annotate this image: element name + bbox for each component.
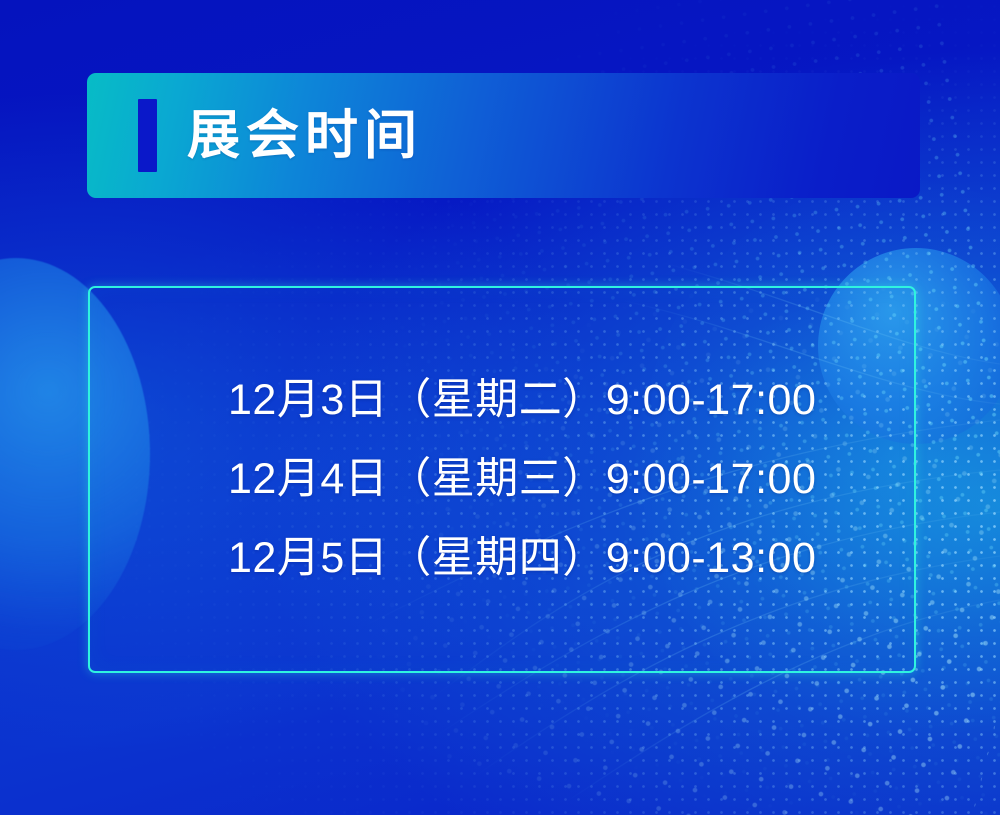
exhibition-time-poster: 展会时间 12月3日（星期二）9:00-17:00 12月4日（星期三）9:00… — [0, 0, 1000, 815]
schedule-row-1: 12月3日（星期二）9:00-17:00 — [228, 361, 914, 440]
header-accent-bar — [138, 99, 157, 172]
schedule-list: 12月3日（星期二）9:00-17:00 12月4日（星期三）9:00-17:0… — [228, 361, 914, 598]
schedule-frame: 12月3日（星期二）9:00-17:00 12月4日（星期三）9:00-17:0… — [88, 286, 916, 673]
schedule-row-3: 12月5日（星期四）9:00-13:00 — [228, 519, 914, 598]
schedule-row-2: 12月4日（星期三）9:00-17:00 — [228, 440, 914, 519]
header-banner: 展会时间 — [87, 73, 920, 198]
page-title: 展会时间 — [187, 109, 423, 162]
